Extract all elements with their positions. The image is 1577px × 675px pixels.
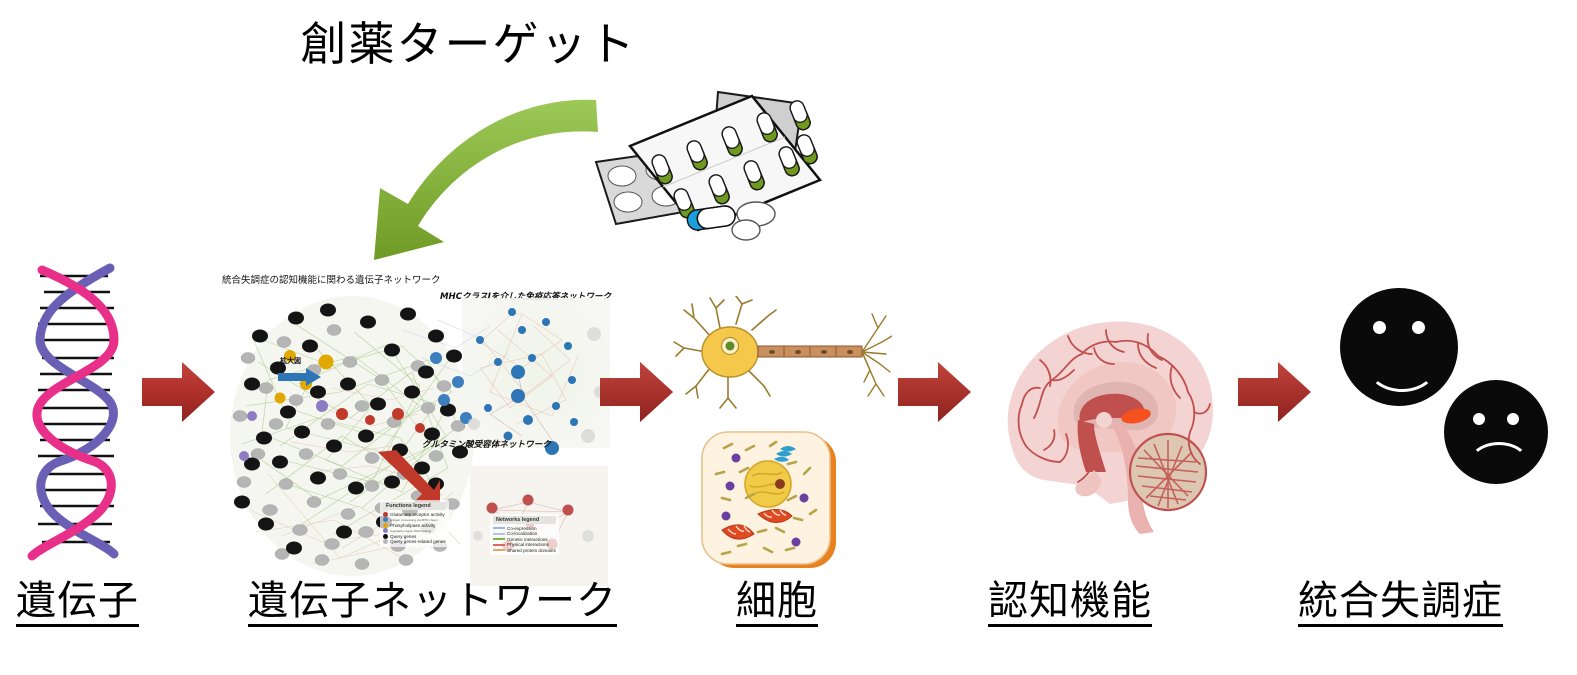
- zoom-label: 拡大図: [280, 356, 301, 366]
- pill-blister-pack-icon: [588, 84, 828, 264]
- legend-text: Co-localization: [507, 531, 537, 536]
- sad-face-eye-right: [1507, 413, 1519, 425]
- legend-text: antigen processing via MHC class I: [390, 518, 438, 522]
- legend-text: regulatory region DNA binding: [390, 529, 431, 533]
- legend-text: Physical interactions: [507, 542, 549, 547]
- legend-item: Query genes-related genes: [383, 539, 446, 544]
- legend-item: Glutamate receptor activity: [383, 512, 446, 517]
- sad-face-mouth: [1468, 442, 1530, 488]
- legend-line: [493, 527, 505, 529]
- sad-face-eye-left: [1473, 413, 1485, 425]
- legend-text: Glutamate receptor activity: [390, 512, 445, 517]
- brain-sagittal-icon: [982, 300, 1232, 540]
- legend-text: Query genes: [390, 534, 416, 539]
- functions-legend-items: Glutamate receptor activity antigen proc…: [383, 512, 446, 545]
- networks-legend: Networks legend Co-expression Co-localiz…: [490, 514, 559, 555]
- legend-item: Query genes: [383, 534, 446, 539]
- functions-legend-heading: Functions legend: [383, 502, 446, 510]
- network-main-title: 統合失調症の認知機能に関わる遺伝子ネットワーク: [222, 272, 441, 286]
- legend-item: Shared protein domains: [493, 548, 556, 553]
- legend-swatch: [383, 528, 388, 533]
- legend-swatch: [383, 517, 388, 522]
- cell-icon: [692, 428, 858, 576]
- legend-text: Query genes-related genes: [390, 539, 446, 544]
- legend-line: [493, 533, 505, 535]
- flow-arrow-4: [1238, 360, 1312, 429]
- stage-label-gene: 遺伝子: [16, 580, 139, 627]
- flow-arrow-3: [898, 360, 972, 429]
- legend-item: antigen processing via MHC class I: [383, 517, 446, 522]
- page-title-text: 創薬ターゲット: [301, 8, 637, 74]
- legend-line: [493, 549, 505, 551]
- functions-legend: Functions legend Glutamate receptor acti…: [380, 500, 449, 547]
- legend-text: Phospholipase activity: [390, 523, 435, 528]
- inset-title: グルタミン酸受容体ネットワーク: [422, 438, 551, 450]
- drug-target-arrow: [340, 92, 610, 262]
- legend-text: Shared protein domains: [507, 548, 556, 553]
- smiley-faces-icon: [1340, 288, 1570, 538]
- legend-item: Co-localization: [493, 531, 556, 536]
- legend-item: Physical interactions: [493, 542, 556, 547]
- networks-legend-items: Co-expression Co-localization Genetic in…: [493, 526, 556, 553]
- legend-swatch: [383, 512, 388, 517]
- legend-swatch: [383, 534, 388, 539]
- legend-swatch: [383, 523, 388, 528]
- sad-face: [1444, 380, 1548, 484]
- happy-face: [1340, 288, 1458, 406]
- page-title: 創薬ターゲット: [0, 8, 1577, 74]
- neuron-icon: [672, 296, 892, 418]
- networks-legend-heading: Networks legend: [493, 516, 556, 524]
- stage-label-gene-network: 遺伝子ネットワーク: [248, 580, 617, 627]
- flow-arrow-1: [142, 360, 216, 429]
- stage-label-cell: 細胞: [736, 580, 818, 627]
- legend-line: [493, 538, 505, 540]
- legend-line: [493, 544, 505, 546]
- legend-swatch: [383, 539, 388, 544]
- legend-item: Genetic interactions: [493, 537, 556, 542]
- legend-item: Phospholipase activity: [383, 523, 446, 528]
- happy-face-eye-right: [1412, 321, 1425, 334]
- stage-label-schizophrenia: 統合失調症: [1298, 580, 1503, 627]
- zoom-arrow-icon: [278, 368, 322, 386]
- happy-face-mouth: [1367, 340, 1437, 392]
- dna-helix-icon: [18, 262, 130, 562]
- legend-text: Genetic interactions: [507, 537, 548, 542]
- happy-face-eye-left: [1373, 321, 1386, 334]
- stage-label-cognitive: 認知機能: [988, 580, 1152, 627]
- legend-item: regulatory region DNA binding: [383, 528, 446, 533]
- legend-item: Co-expression: [493, 526, 556, 531]
- flow-arrow-2: [600, 360, 674, 429]
- gene-network-graph-icon: 統合失調症の認知機能に関わる遺伝子ネットワーク MHCクラスIを介した免疫応答ネ…: [222, 272, 612, 567]
- legend-text: Co-expression: [507, 526, 537, 531]
